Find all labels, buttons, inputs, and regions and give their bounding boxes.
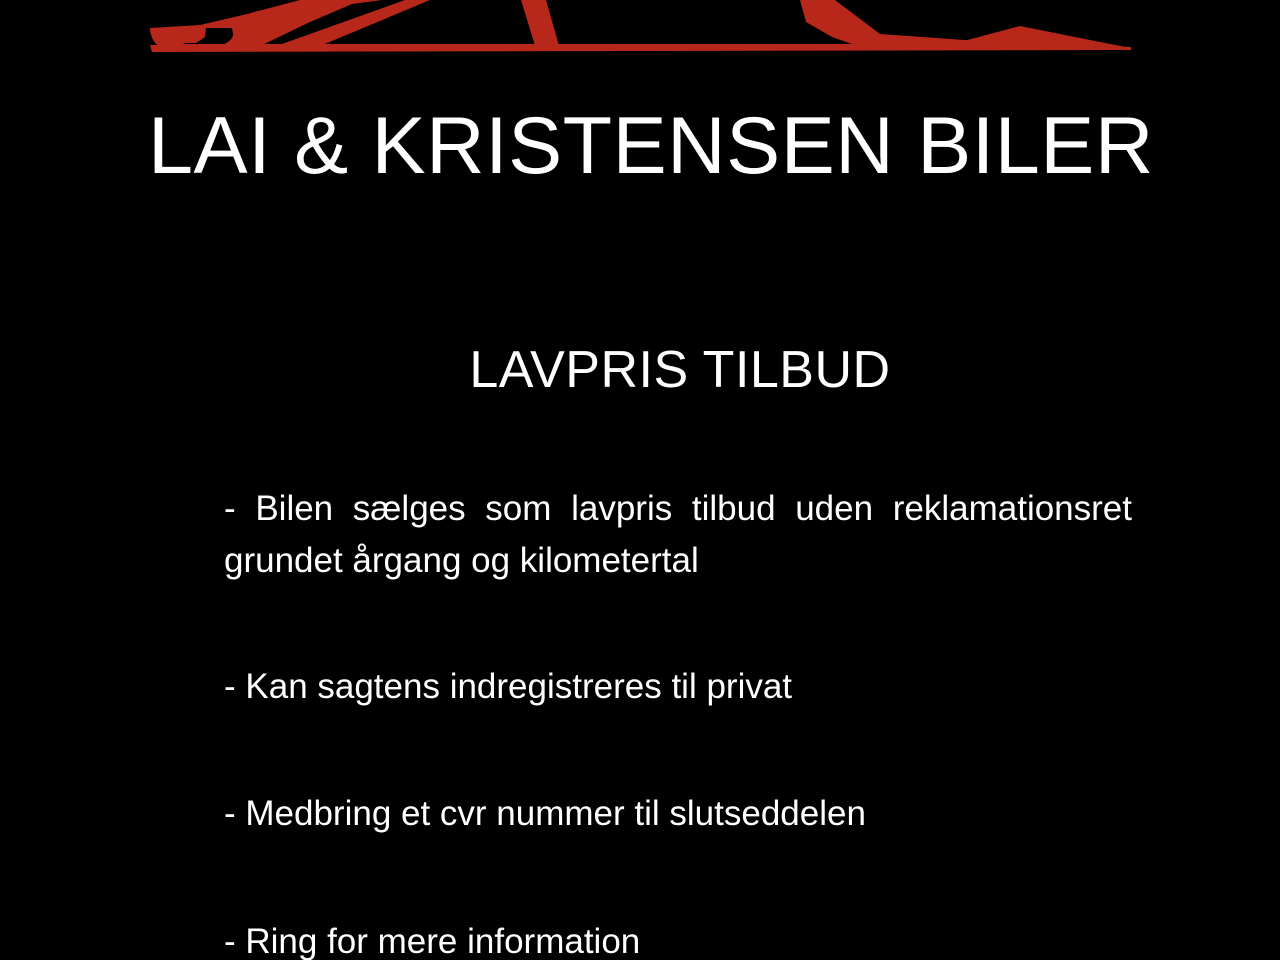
offer-heading-text: LAVPRIS TILBUD: [469, 344, 890, 396]
car-silhouette-icon: [0, 0, 1280, 62]
list-item-line: - Kan sagtens indregistreres til privat: [224, 667, 792, 706]
logo-banner: [0, 0, 1280, 62]
list-item-line: - Ring for mere information: [224, 922, 640, 960]
list-item: - Medbring et cvr nummer til slutseddele…: [224, 788, 1132, 840]
list-item-line: - Bilen sælges som lavpris tilbud uden r…: [224, 483, 1132, 535]
spacer: [224, 884, 1132, 916]
spacer: [224, 756, 1132, 788]
list-item-line: - Medbring et cvr nummer til slutseddele…: [224, 794, 866, 833]
advertisement-slide: LAI & KRISTENSEN BILER LAVPRIS TILBUD - …: [0, 0, 1280, 960]
list-item: - Bilen sælges som lavpris tilbud uden r…: [224, 483, 1132, 587]
list-item: - Ring for mere information: [224, 916, 1132, 960]
page-title: LAI & KRISTENSEN BILER: [148, 106, 1148, 187]
spacer: [224, 631, 1132, 661]
list-item-line: grundet årgang og kilometertal: [224, 535, 1132, 587]
list-item: - Kan sagtens indregistreres til privat: [224, 661, 1132, 713]
terms-list: - Bilen sælges som lavpris tilbud uden r…: [224, 483, 1132, 960]
offer-heading: LAVPRIS TILBUD: [0, 344, 1280, 396]
